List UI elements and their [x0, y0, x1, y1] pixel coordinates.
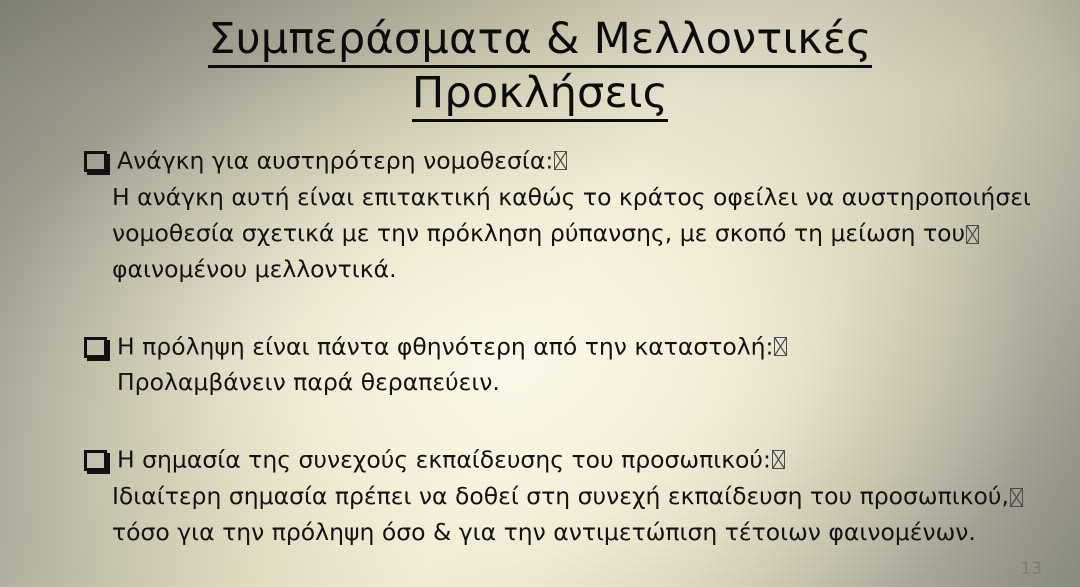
bullet-body-line: Προλαμβάνειν παρά θεραπεύειν.: [117, 364, 1080, 400]
bullet-body-line: Η ανάγκη αυτή είναι επιτακτική καθώς το …: [112, 179, 1080, 215]
bullet-heading-text: Ανάγκη για αυστηρότερη νομοθεσία:: [117, 147, 553, 175]
missing-glyph-icon: [554, 151, 567, 170]
bullet-group: Η σημασία της συνεχούς εκπαίδευσης του π…: [84, 440, 1080, 550]
missing-glyph-icon: [1010, 488, 1023, 507]
slide-body: Ανάγκη για αυστηρότερη νομοθεσία: Η ανάγ…: [84, 141, 1080, 550]
missing-glyph-icon: [774, 337, 787, 356]
bullet-body-line-text: Ιδιαίτερη σημασία πρέπει να δοθεί στη συ…: [112, 482, 1009, 510]
bullet-heading-text: Η σημασία της συνεχούς εκπαίδευσης του π…: [117, 446, 771, 474]
bullet-group: Ανάγκη για αυστηρότερη νομοθεσία: Η ανάγ…: [84, 141, 1080, 287]
bullet-heading-row: Η πρόληψη είναι πάντα φθηνότερη από την …: [84, 327, 1080, 365]
slide-title-line-2: Προκλήσεις: [0, 66, 1080, 120]
bullet-heading-row: Η σημασία της συνεχούς εκπαίδευσης του π…: [84, 440, 1080, 478]
page-number: 13: [1020, 559, 1042, 579]
box-bullet-icon: [84, 337, 107, 358]
presentation-slide: Συμπεράσματα & Μελλοντικές Προκλήσεις Αν…: [0, 0, 1080, 587]
bullet-body-line: νομοθεσία σχετικά με την πρόκληση ρύπανσ…: [112, 215, 1080, 251]
bullet-body-line: τόσο για την πρόληψη όσο & για την αντιμ…: [112, 514, 1080, 550]
missing-glyph-icon: [966, 225, 979, 244]
slide-title-line-2-text: Προκλήσεις: [412, 68, 668, 122]
slide-title: Συμπεράσματα & Μελλοντικές Προκλήσεις: [0, 12, 1080, 120]
bullet-heading-row: Ανάγκη για αυστηρότερη νομοθεσία:: [84, 141, 1080, 179]
slide-title-line-1: Συμπεράσματα & Μελλοντικές: [0, 12, 1080, 66]
bullet-heading-text: Η πρόληψη είναι πάντα φθηνότερη από την …: [117, 332, 773, 360]
bullet-group: Η πρόληψη είναι πάντα φθηνότερη από την …: [84, 327, 1080, 401]
slide-title-line-1-text: Συμπεράσματα & Μελλοντικές: [208, 14, 871, 68]
box-bullet-icon: [84, 450, 107, 471]
box-bullet-icon: [84, 151, 107, 172]
missing-glyph-icon: [772, 450, 785, 469]
bullet-body-line: Ιδιαίτερη σημασία πρέπει να δοθεί στη συ…: [112, 478, 1080, 514]
bullet-body-line: φαινομένου μελλοντικά.: [112, 251, 1080, 287]
bullet-body-line-text: νομοθεσία σχετικά με την πρόκληση ρύπανσ…: [112, 219, 965, 247]
